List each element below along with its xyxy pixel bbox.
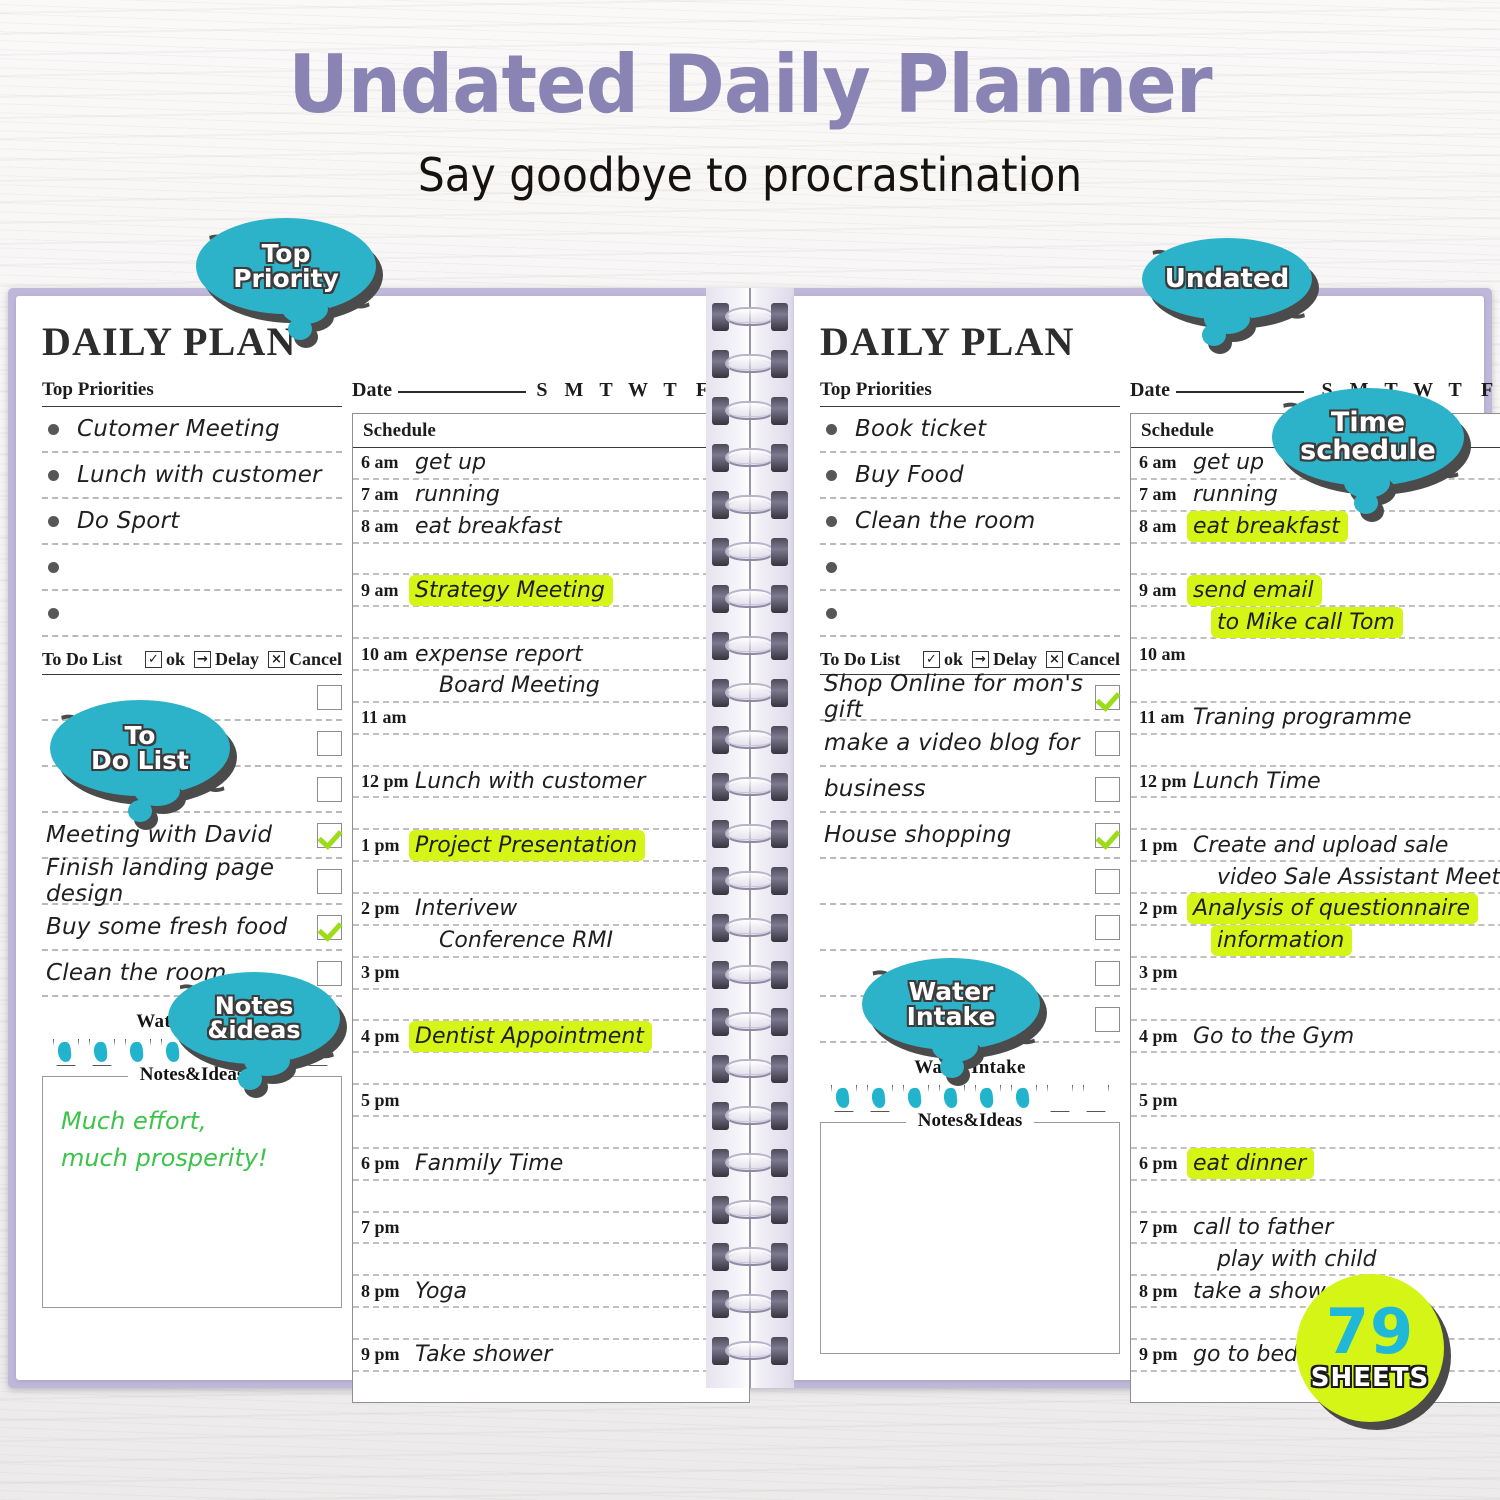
water-glass-icon[interactable] (975, 1085, 1001, 1112)
spiral-coil (712, 772, 788, 802)
sheets-label: SHEETS (1311, 1363, 1429, 1393)
top-priorities-heading-left: Top Priorities (42, 379, 342, 407)
schedule-hour: 2 pm (353, 898, 415, 919)
schedule-row[interactable] (1131, 735, 1500, 767)
schedule-row[interactable]: 6 amget up (353, 448, 749, 480)
todo-checkbox[interactable] (1095, 1007, 1120, 1032)
schedule-hour: 6 pm (1131, 1153, 1193, 1174)
legend-mark-icon: ✓ (923, 651, 940, 668)
spiral-coil (712, 490, 788, 520)
todo-legend-item: →Delay (194, 649, 259, 670)
schedule-event: Strategy Meeting (415, 578, 605, 603)
schedule-event: information (1217, 928, 1344, 953)
schedule-hour: 6 am (1131, 452, 1193, 473)
top-priority-row[interactable] (42, 545, 342, 591)
schedule-hour: 2 pm (1131, 898, 1193, 919)
schedule-row[interactable]: 11 am (353, 703, 749, 735)
legend-mark-icon: → (194, 651, 211, 668)
schedule-row[interactable] (353, 1117, 749, 1149)
todo-row[interactable]: Shop Online for mon's gift (820, 675, 1120, 721)
bullet-icon (826, 516, 837, 527)
schedule-row[interactable]: 9 amStrategy Meeting (353, 575, 749, 607)
schedule-row[interactable] (1131, 1053, 1500, 1085)
notes-section-right: Notes&Ideas (820, 1122, 1120, 1354)
schedule-hour: 11 am (353, 707, 415, 728)
schedule-slots-right: 6 amget up7 amrunning8 ameat breakfast9 … (1131, 448, 1500, 1402)
schedule-event: eat breakfast (415, 514, 562, 539)
schedule-row[interactable]: 11 amTraning programme (1131, 703, 1500, 735)
schedule-hour: 11 am (1131, 707, 1193, 728)
spiral-coil (712, 1336, 788, 1366)
schedule-hour: 7 pm (353, 1217, 415, 1238)
schedule-event: Go to the Gym (1193, 1024, 1354, 1049)
bullet-icon (826, 424, 837, 435)
schedule-row[interactable] (353, 1181, 749, 1213)
spiral-coil (712, 584, 788, 614)
schedule-row[interactable] (353, 544, 749, 576)
spiral-coil (712, 1007, 788, 1037)
schedule-hour: 8 am (1131, 516, 1193, 537)
schedule-row[interactable] (353, 607, 749, 639)
todo-text: Finish landing page design (46, 855, 317, 907)
todo-row[interactable] (820, 905, 1120, 951)
schedule-row[interactable]: 5 pm (1131, 1085, 1500, 1117)
notes-text-left: Much effort,much prosperity! (61, 1103, 323, 1177)
schedule-hour: 7 pm (1131, 1217, 1193, 1238)
spiral-coil (712, 913, 788, 943)
schedule-row[interactable]: 3 pm (353, 958, 749, 990)
schedule-hour: 9 pm (353, 1344, 415, 1365)
schedule-table-left: Schedule 6 amget up7 amrunning8 ameat br… (352, 413, 750, 1403)
schedule-row[interactable] (353, 990, 749, 1022)
schedule-row[interactable]: 6 pmeat dinner (1131, 1149, 1500, 1181)
schedule-row[interactable]: 12 pmLunch with customer (353, 767, 749, 799)
schedule-hour: 3 pm (1131, 962, 1193, 983)
todo-checkbox[interactable] (317, 777, 342, 802)
todo-legend-item: ×Cancel (1046, 649, 1120, 670)
day-of-week[interactable]: M (558, 379, 590, 402)
spiral-coil (712, 443, 788, 473)
todo-row[interactable]: House shopping (820, 813, 1120, 859)
callout-text: Timeschedule (1300, 409, 1436, 464)
schedule-row[interactable]: to Mike call Tom (1131, 607, 1500, 639)
schedule-event: Traning programme (1193, 705, 1412, 730)
top-priority-row[interactable]: Do Sport (42, 499, 342, 545)
schedule-row[interactable]: 6 pmFanmily Time (353, 1149, 749, 1181)
schedule-row[interactable] (353, 1308, 749, 1340)
top-priority-text: Do Sport (77, 508, 179, 534)
plan-title-right: DAILY PLAN (820, 322, 1462, 362)
spiral-coil (712, 1242, 788, 1272)
legend-mark-icon: × (1046, 651, 1063, 668)
schedule-event: video Sale Assistant Meeting (1217, 865, 1500, 890)
spiral-coil (712, 866, 788, 896)
todo-label-left: To Do List (42, 649, 122, 670)
bullet-icon (48, 424, 59, 435)
callout-top-priority: TopPriority (196, 218, 376, 318)
day-of-week[interactable]: W (622, 379, 654, 402)
schedule-row[interactable] (1131, 798, 1500, 830)
bullet-icon (48, 470, 59, 481)
schedule-event: send email (1193, 578, 1314, 603)
schedule-event: Lunch Time (1193, 769, 1321, 794)
water-glass-icon[interactable] (939, 1085, 965, 1112)
spiral-coil (712, 960, 788, 990)
plan-title-left: DAILY PLAN (42, 322, 684, 362)
schedule-hour: 5 pm (353, 1090, 415, 1111)
schedule-row[interactable]: Conference RMI (353, 926, 749, 958)
schedule-hour: 12 pm (1131, 771, 1193, 792)
date-label-left: Date (352, 379, 392, 402)
schedule-row[interactable]: 7 amrunning (353, 480, 749, 512)
top-priority-row[interactable]: Book ticket (820, 407, 1120, 453)
schedule-event: play with child (1217, 1247, 1376, 1272)
schedule-event: Interivew (415, 896, 517, 921)
todo-text: make a video blog for (824, 730, 1095, 756)
schedule-hour: 8 pm (353, 1281, 415, 1302)
legend-text: Cancel (1067, 649, 1120, 670)
schedule-row[interactable]: 7 pmcall to father (1131, 1213, 1500, 1245)
water-glass-icon[interactable] (1083, 1085, 1109, 1112)
top-priority-text: Book ticket (855, 416, 986, 442)
schedule-hour: 4 pm (353, 1026, 415, 1047)
spiral-binding (706, 288, 794, 1388)
schedule-hour: 9 pm (1131, 1344, 1193, 1365)
spiral-coil (712, 396, 788, 426)
schedule-row[interactable]: 4 pmGo to the Gym (1131, 1021, 1500, 1053)
schedule-row[interactable] (353, 1372, 749, 1402)
notes-line: much prosperity! (61, 1140, 323, 1177)
schedule-slots-left: 6 amget up7 amrunning8 ameat breakfast9 … (353, 448, 749, 1402)
bullet-icon (826, 562, 837, 573)
date-label-right: Date (1130, 379, 1170, 402)
schedule-hour: 1 pm (353, 835, 415, 856)
schedule-hour: 3 pm (353, 962, 415, 983)
water-glass-icon[interactable] (53, 1039, 79, 1066)
schedule-row[interactable] (1131, 671, 1500, 703)
todo-legend-left: ✓ok→Delay×Cancel (145, 649, 342, 670)
day-of-week[interactable]: S (526, 379, 558, 402)
schedule-event: get up (415, 450, 486, 475)
top-priority-row[interactable] (42, 591, 342, 637)
schedule-row[interactable]: Board Meeting (353, 671, 749, 703)
todo-row[interactable]: make a video blog for (820, 721, 1120, 767)
spiral-coil (712, 631, 788, 661)
todo-row[interactable]: business (820, 767, 1120, 813)
schedule-hour: 7 am (353, 484, 415, 505)
todo-checkbox[interactable] (1095, 777, 1120, 802)
schedule-row[interactable] (353, 1053, 749, 1085)
schedule-row[interactable] (1131, 1117, 1500, 1149)
spiral-coil (712, 1054, 788, 1084)
todo-row[interactable]: Meeting with David (42, 813, 342, 859)
spiral-coil (712, 1195, 788, 1225)
schedule-event: Fanmily Time (415, 1151, 563, 1176)
spiral-coil (712, 1101, 788, 1131)
schedule-row[interactable]: 10 amexpense report (353, 639, 749, 671)
schedule-event: Conference RMI (439, 928, 613, 953)
spiral-coil (712, 678, 788, 708)
schedule-hour: 4 pm (1131, 1026, 1193, 1047)
schedule-event: Lunch with customer (415, 769, 645, 794)
legend-mark-icon: × (268, 651, 285, 668)
bullet-icon (826, 608, 837, 619)
schedule-event: call to father (1193, 1215, 1333, 1240)
water-glass-icon[interactable] (1047, 1085, 1073, 1112)
todo-heading-left: To Do List ✓ok→Delay×Cancel (42, 649, 342, 675)
callout-time-schedule: Timeschedule (1272, 388, 1464, 490)
bullet-icon (48, 608, 59, 619)
callout-text: Notes&ideas (207, 994, 300, 1043)
schedule-row[interactable]: play with child (1131, 1244, 1500, 1276)
water-glass-icon[interactable] (867, 1085, 893, 1112)
schedule-row[interactable] (1131, 990, 1500, 1022)
spiral-coil (712, 1148, 788, 1178)
schedule-hour: 8 pm (1131, 1281, 1193, 1302)
todo-row[interactable]: Buy some fresh food (42, 905, 342, 951)
callout-text: TopPriority (233, 241, 339, 292)
schedule-hour: 5 pm (1131, 1090, 1193, 1111)
schedule-event: eat breakfast (1193, 514, 1340, 539)
water-intake-label-right: Water Intake (820, 1057, 1120, 1079)
schedule-row[interactable]: 10 am (1131, 639, 1500, 671)
todo-checkbox[interactable] (1095, 823, 1120, 848)
schedule-hour: 10 am (353, 644, 415, 665)
schedule-row[interactable]: video Sale Assistant Meeting (1131, 862, 1500, 894)
top-priority-text: Clean the room (855, 508, 1035, 534)
schedule-hour: 8 am (353, 516, 415, 537)
day-of-week[interactable]: T (654, 379, 686, 402)
todo-text: Shop Online for mon's gift (824, 671, 1095, 723)
water-glass-icon[interactable] (903, 1085, 929, 1112)
todo-legend-right: ✓ok→Delay×Cancel (923, 649, 1120, 670)
todo-row[interactable]: Finish landing page design (42, 859, 342, 905)
spiral-coil (712, 349, 788, 379)
callout-notes-ideas: Notes&ideas (168, 972, 340, 1068)
schedule-row[interactable]: 1 pmCreate and upload sale (1131, 830, 1500, 862)
callout-undated: Undated (1142, 238, 1312, 324)
schedule-row[interactable]: 8 ameat breakfast (353, 512, 749, 544)
sheets-badge: 79 SHEETS (1296, 1274, 1444, 1422)
todo-checkbox[interactable] (317, 915, 342, 940)
todo-label-right: To Do List (820, 649, 900, 670)
legend-text: ok (166, 649, 185, 670)
legend-mark-icon: ✓ (145, 651, 162, 668)
schedule-row[interactable] (353, 735, 749, 767)
schedule-hour: 9 am (1131, 580, 1193, 601)
todo-checkbox[interactable] (1095, 869, 1120, 894)
top-priority-row[interactable]: Buy Food (820, 453, 1120, 499)
schedule-row[interactable]: 9 amsend email (1131, 575, 1500, 607)
schedule-event: running (1193, 482, 1278, 507)
water-glass-icon[interactable] (1011, 1085, 1037, 1112)
spiral-coil (712, 1289, 788, 1319)
schedule-event: Board Meeting (439, 673, 600, 698)
spiral-coil (712, 725, 788, 755)
schedule-event: eat dinner (1193, 1151, 1306, 1176)
schedule-event: go to bed (1193, 1342, 1298, 1367)
schedule-hour: 10 am (1131, 644, 1193, 665)
water-glasses-right (820, 1085, 1120, 1112)
schedule-row[interactable] (353, 798, 749, 830)
date-input-left[interactable] (398, 391, 526, 393)
top-priority-text: Buy Food (855, 462, 964, 488)
schedule-event: running (415, 482, 500, 507)
bullet-icon (48, 516, 59, 527)
schedule-event: Create and upload sale (1193, 833, 1448, 858)
todo-text: Meeting with David (46, 822, 317, 848)
spiral-coil (712, 302, 788, 332)
water-glass-icon[interactable] (89, 1039, 115, 1066)
top-priorities-list-left: Cutomer MeetingLunch with customerDo Spo… (42, 407, 342, 637)
top-priority-row[interactable]: Clean the room (820, 499, 1120, 545)
legend-text: Delay (993, 649, 1037, 670)
top-priority-text: Cutomer Meeting (77, 416, 280, 442)
schedule-row[interactable]: 8 ameat breakfast (1131, 512, 1500, 544)
schedule-event: expense report (415, 642, 583, 667)
notes-box-right[interactable] (820, 1122, 1120, 1354)
schedule-row[interactable]: 3 pm (1131, 958, 1500, 990)
schedule-hour: 6 am (353, 452, 415, 473)
schedule-event: Dentist Appointment (415, 1024, 644, 1049)
bullet-icon (48, 562, 59, 573)
todo-checkbox[interactable] (1095, 961, 1120, 986)
callout-to-do-list: ToDo List (50, 700, 230, 800)
date-row-left: Date SMTWTFS (352, 379, 750, 413)
todo-legend-item: ✓ok (923, 649, 963, 670)
todo-checkbox[interactable] (317, 731, 342, 756)
top-priority-row[interactable] (820, 545, 1120, 591)
day-of-week[interactable]: T (590, 379, 622, 402)
todo-checkbox[interactable] (1095, 685, 1120, 710)
schedule-row[interactable]: 7 pm (353, 1213, 749, 1245)
schedule-row[interactable]: 9 pmTake shower (353, 1340, 749, 1372)
todo-text: business (824, 776, 1095, 802)
todo-row[interactable] (820, 859, 1120, 905)
schedule-row[interactable] (353, 1244, 749, 1276)
todo-checkbox[interactable] (1095, 915, 1120, 940)
notes-box-left[interactable]: Much effort,much prosperity! (42, 1076, 342, 1308)
bullet-icon (826, 470, 837, 481)
planner-promo-image: Undated Daily Planner Say goodbye to pro… (0, 0, 1500, 1500)
callout-text: ToDo List (91, 723, 189, 774)
todo-checkbox[interactable] (1095, 731, 1120, 756)
schedule-row[interactable]: 1 pmProject Presentation (353, 830, 749, 862)
notes-line: Much effort, (61, 1103, 323, 1140)
page-subtitle: Say goodbye to procrastination (60, 148, 1440, 202)
schedule-heading-left: Schedule (353, 414, 749, 448)
legend-mark-icon: → (972, 651, 989, 668)
legend-text: Delay (215, 649, 259, 670)
schedule-row[interactable] (1131, 544, 1500, 576)
legend-text: ok (944, 649, 963, 670)
top-priority-row[interactable]: Cutomer Meeting (42, 407, 342, 453)
todo-text: House shopping (824, 822, 1095, 848)
spiral-coil (712, 537, 788, 567)
schedule-row[interactable]: 12 pmLunch Time (1131, 767, 1500, 799)
schedule-hour: 7 am (1131, 484, 1193, 505)
top-priority-row[interactable]: Lunch with customer (42, 453, 342, 499)
schedule-event: Project Presentation (415, 833, 637, 858)
water-glass-icon[interactable] (125, 1039, 151, 1066)
schedule-event: to Mike call Tom (1217, 610, 1395, 635)
schedule-row[interactable] (1131, 1181, 1500, 1213)
todo-legend-item: ×Cancel (268, 649, 342, 670)
notes-section-left: Notes&Ideas Much effort,much prosperity! (42, 1076, 342, 1308)
callout-water-intake: WaterIntake (862, 958, 1040, 1054)
schedule-event: Analysis of questionnaire (1193, 896, 1470, 921)
todo-text: Buy some fresh food (46, 914, 317, 940)
callout-text: Undated (1165, 266, 1289, 293)
sheets-count: 79 (1326, 1303, 1414, 1360)
schedule-row[interactable]: 2 pmAnalysis of questionnaire (1131, 894, 1500, 926)
schedule-event: Yoga (415, 1279, 467, 1304)
schedule-hour: 12 pm (353, 771, 415, 792)
legend-text: Cancel (289, 649, 342, 670)
schedule-table-right: Schedule 6 amget up7 amrunning8 ameat br… (1130, 413, 1500, 1403)
day-of-week[interactable]: F (1471, 379, 1500, 402)
water-glass-icon[interactable] (831, 1085, 857, 1112)
top-priority-row[interactable] (820, 591, 1120, 637)
todo-checkbox[interactable] (317, 685, 342, 710)
schedule-row[interactable] (353, 862, 749, 894)
todo-legend-item: ✓ok (145, 649, 185, 670)
schedule-hour: 6 pm (353, 1153, 415, 1174)
schedule-row[interactable]: information (1131, 926, 1500, 958)
schedule-hour: 9 am (353, 580, 415, 601)
schedule-hour: 1 pm (1131, 835, 1193, 856)
schedule-row[interactable]: 5 pm (353, 1085, 749, 1117)
top-priorities-heading-right: Top Priorities (820, 379, 1120, 407)
callout-text: WaterIntake (907, 979, 996, 1030)
schedule-row[interactable]: 4 pmDentist Appointment (353, 1021, 749, 1053)
top-priorities-list-right: Book ticketBuy FoodClean the room (820, 407, 1120, 637)
schedule-row[interactable]: 2 pmInterivew (353, 894, 749, 926)
top-priority-text: Lunch with customer (77, 462, 322, 488)
planner-page-left: DAILY PLAN Top Priorities Cutomer Meetin… (16, 296, 706, 1380)
todo-checkbox[interactable] (317, 823, 342, 848)
schedule-event: Take shower (415, 1342, 552, 1367)
spiral-coil (712, 819, 788, 849)
todo-legend-item: →Delay (972, 649, 1037, 670)
schedule-row[interactable]: 8 pmYoga (353, 1276, 749, 1308)
page-title: Undated Daily Planner (53, 38, 1448, 131)
todo-checkbox[interactable] (317, 869, 342, 894)
